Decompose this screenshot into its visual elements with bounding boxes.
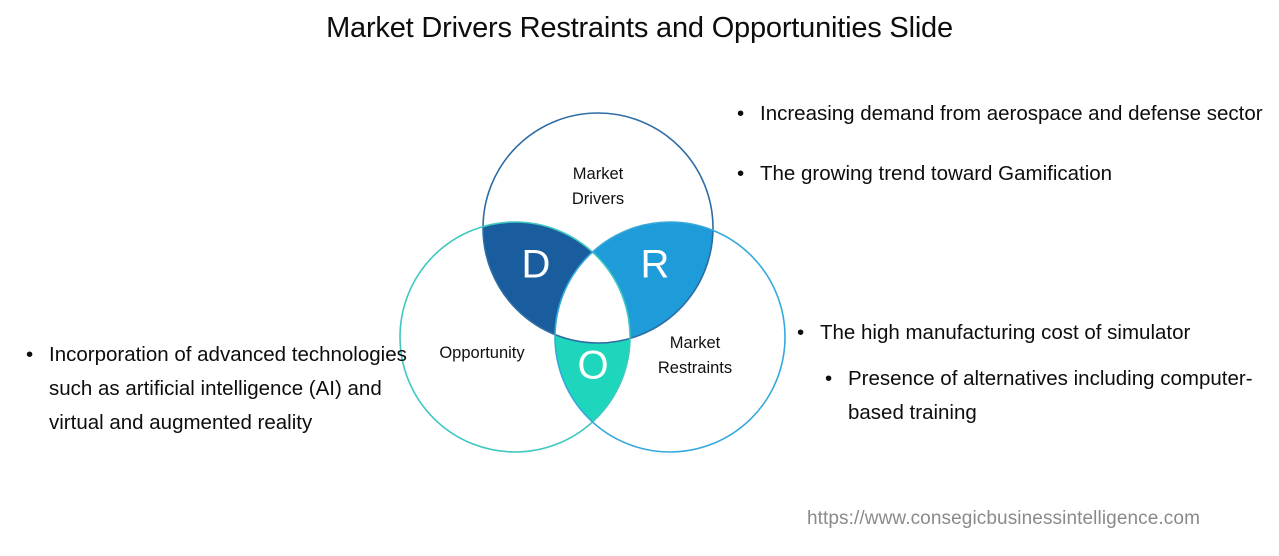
venn-letter-opportunity: O xyxy=(577,344,608,388)
bullet-point-icon: • xyxy=(737,97,744,131)
venn-label-drivers-line1: Market xyxy=(573,165,624,183)
page-title: Market Drivers Restraints and Opportunit… xyxy=(0,12,1279,45)
list-item-text: Incorporation of advanced technologies s… xyxy=(49,343,407,434)
market-drivers-bullet-list: • Increasing demand from aerospace and d… xyxy=(733,97,1263,217)
list-item-text: Presence of alternatives including compu… xyxy=(848,367,1253,424)
list-item: • The growing trend toward Gamification xyxy=(733,157,1263,191)
list-item: • Presence of alternatives including com… xyxy=(793,362,1263,430)
market-restraints-bullet-list: • The high manufacturing cost of simulat… xyxy=(793,316,1263,441)
opportunity-bullet-list: • Incorporation of advanced technologies… xyxy=(22,338,412,439)
venn-letter-restraints: R xyxy=(641,243,670,287)
list-item-text: The growing trend toward Gamification xyxy=(760,162,1112,185)
bullet-point-icon: • xyxy=(797,316,804,350)
venn-label-restraints-line1: Market xyxy=(670,334,721,352)
venn-letter-drivers: D xyxy=(522,243,551,287)
bullet-point-icon: • xyxy=(825,362,832,396)
slide-canvas: Market Drivers Restraints and Opportunit… xyxy=(0,0,1279,556)
venn-label-restraints-line2: Restraints xyxy=(658,359,732,377)
list-item: • Incorporation of advanced technologies… xyxy=(22,338,412,439)
source-url[interactable]: https://www.consegicbusinessintelligence… xyxy=(0,508,1200,530)
list-item: • Increasing demand from aerospace and d… xyxy=(733,97,1263,131)
list-item-text: The high manufacturing cost of simulator xyxy=(820,321,1190,344)
bullet-point-icon: • xyxy=(737,157,744,191)
bullet-point-icon: • xyxy=(26,338,33,372)
list-item-text: Increasing demand from aerospace and def… xyxy=(760,102,1263,125)
venn-label-drivers-line2: Drivers xyxy=(572,190,624,208)
list-item: • The high manufacturing cost of simulat… xyxy=(793,316,1263,350)
venn-label-opportunity: Opportunity xyxy=(439,344,525,362)
